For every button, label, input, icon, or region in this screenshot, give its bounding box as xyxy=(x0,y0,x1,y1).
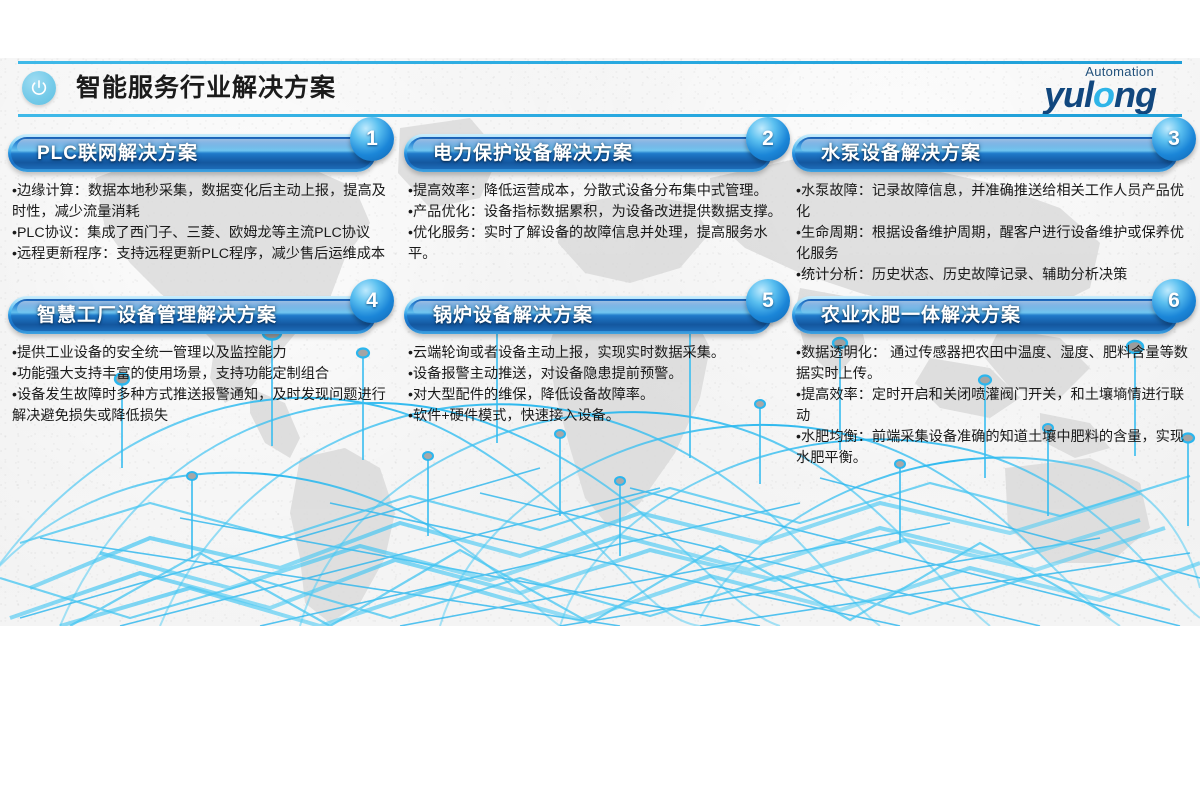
power-icon[interactable] xyxy=(22,71,56,105)
card-bullet: •软件+硬件模式，快速接入设备。 xyxy=(408,406,786,427)
card-number-badge: 4 xyxy=(350,279,394,323)
card-bullet: •设备报警主动推送，对设备隐患提前预警。 xyxy=(408,364,786,385)
slide-canvas: 智能服务行业解决方案 Automation yulong PLC联网解决方案 1… xyxy=(0,58,1200,626)
card-body: •提高效率：降低运营成本，分散式设备分布集中式管理。 •产品优化：设备指标数据累… xyxy=(404,181,786,265)
card-number-badge: 2 xyxy=(746,117,790,161)
solution-card[interactable]: 水泵设备解决方案 3 •水泵故障：记录故障信息，并准确推送给相关工作人员产品优化… xyxy=(792,134,1192,286)
card-bullet: •水泵故障：记录故障信息，并准确推送给相关工作人员产品优化 xyxy=(796,181,1190,223)
card-title: 水泵设备解决方案 xyxy=(821,137,1127,169)
card-title-pill-inner: 锅炉设备解决方案 xyxy=(407,299,769,331)
card-title-pill[interactable]: 锅炉设备解决方案 5 xyxy=(404,296,772,334)
card-body: •云端轮询或者设备主动上报，实现实时数据采集。 •设备报警主动推送，对设备隐患提… xyxy=(404,343,786,427)
card-bullet: •功能强大支持丰富的使用场景，支持功能定制组合 xyxy=(12,364,390,385)
card-bullet: •云端轮询或者设备主动上报，实现实时数据采集。 xyxy=(408,343,786,364)
card-title-pill[interactable]: 农业水肥一体解决方案 6 xyxy=(792,296,1178,334)
card-number-badge: 5 xyxy=(746,279,790,323)
card-number-badge: 6 xyxy=(1152,279,1196,323)
card-title: 锅炉设备解决方案 xyxy=(433,299,721,331)
solution-card[interactable]: PLC联网解决方案 1 •边缘计算：数据本地秒采集，数据变化后主动上报，提高及时… xyxy=(8,134,390,265)
card-number-badge: 3 xyxy=(1152,117,1196,161)
card-bullet: •提供工业设备的安全统一管理以及监控能力 xyxy=(12,343,390,364)
card-title-pill-inner: 智慧工厂设备管理解决方案 xyxy=(11,299,373,331)
card-body: •数据透明化： 通过传感器把农田中温度、湿度、肥料含量等数据实时上传。 •提高效… xyxy=(792,343,1190,469)
card-bullet: •提高效率：定时开启和关闭喷灌阀门开关，和土壤墒情进行联动 xyxy=(796,385,1190,427)
page-title: 智能服务行业解决方案 xyxy=(76,64,336,112)
card-title: 电力保护设备解决方案 xyxy=(433,137,721,169)
card-bullet: •边缘计算：数据本地秒采集，数据变化后主动上报，提高及时性，减少流量消耗 xyxy=(12,181,390,223)
card-title-pill[interactable]: 智慧工厂设备管理解决方案 4 xyxy=(8,296,376,334)
card-bullet: •PLC协议：集成了西门子、三菱、欧姆龙等主流PLC协议 xyxy=(12,223,390,244)
card-title-pill[interactable]: 电力保护设备解决方案 2 xyxy=(404,134,772,172)
card-bullet: •对大型配件的维保，降低设备故障率。 xyxy=(408,385,786,406)
solution-card[interactable]: 电力保护设备解决方案 2 •提高效率：降低运营成本，分散式设备分布集中式管理。 … xyxy=(404,134,786,265)
card-title-pill-inner: 农业水肥一体解决方案 xyxy=(795,299,1175,331)
card-title-pill[interactable]: PLC联网解决方案 1 xyxy=(8,134,376,172)
card-number: 6 xyxy=(1152,279,1196,323)
card-number: 4 xyxy=(350,279,394,323)
solution-card[interactable]: 智慧工厂设备管理解决方案 4 •提供工业设备的安全统一管理以及监控能力 •功能强… xyxy=(8,296,390,427)
card-title: 智慧工厂设备管理解决方案 xyxy=(37,299,325,331)
logo-text-part1: yul xyxy=(1044,74,1093,115)
card-bullet: •统计分析：历史状态、历史故障记录、辅助分析决策 xyxy=(796,265,1190,286)
page-header: 智能服务行业解决方案 Automation yulong xyxy=(0,58,1200,118)
card-title-pill-inner: PLC联网解决方案 xyxy=(11,137,373,169)
card-number: 3 xyxy=(1152,117,1196,161)
card-bullet: •生命周期：根据设备维护周期，醒客户进行设备维护或保养优化服务 xyxy=(796,223,1190,265)
card-number: 5 xyxy=(746,279,790,323)
logo-wordmark: yulong xyxy=(1044,76,1156,114)
card-bullet: •提高效率：降低运营成本，分散式设备分布集中式管理。 xyxy=(408,181,786,202)
logo-text-part2: ng xyxy=(1114,74,1156,115)
card-title-pill-inner: 电力保护设备解决方案 xyxy=(407,137,769,169)
card-title: PLC联网解决方案 xyxy=(37,137,325,169)
card-number: 2 xyxy=(746,117,790,161)
solution-card[interactable]: 农业水肥一体解决方案 6 •数据透明化： 通过传感器把农田中温度、湿度、肥料含量… xyxy=(792,296,1192,469)
logo-text-o: o xyxy=(1093,74,1114,115)
solution-card[interactable]: 锅炉设备解决方案 5 •云端轮询或者设备主动上报，实现实时数据采集。 •设备报警… xyxy=(404,296,786,427)
card-title: 农业水肥一体解决方案 xyxy=(821,299,1127,331)
card-bullet: •水肥均衡：前端采集设备准确的知道土壤中肥料的含量，实现水肥平衡。 xyxy=(796,427,1190,469)
header-rule-bottom xyxy=(18,114,1182,117)
card-number: 1 xyxy=(350,117,394,161)
card-title-pill[interactable]: 水泵设备解决方案 3 xyxy=(792,134,1178,172)
brand-logo: Automation yulong xyxy=(946,62,1156,114)
footer-whitespace xyxy=(0,626,1200,806)
card-title-pill-inner: 水泵设备解决方案 xyxy=(795,137,1175,169)
card-number-badge: 1 xyxy=(350,117,394,161)
card-bullet: •设备发生故障时多种方式推送报警通知，及时发现问题进行解决避免损失或降低损失 xyxy=(12,385,390,427)
card-body: •水泵故障：记录故障信息，并准确推送给相关工作人员产品优化 •生命周期：根据设备… xyxy=(792,181,1190,286)
card-body: •边缘计算：数据本地秒采集，数据变化后主动上报，提高及时性，减少流量消耗 •PL… xyxy=(8,181,390,265)
card-bullet: •数据透明化： 通过传感器把农田中温度、湿度、肥料含量等数据实时上传。 xyxy=(796,343,1190,385)
card-bullet: •优化服务：实时了解设备的故障信息并处理，提高服务水平。 xyxy=(408,223,786,265)
card-bullet: •产品优化：设备指标数据累积，为设备改进提供数据支撑。 xyxy=(408,202,786,223)
card-body: •提供工业设备的安全统一管理以及监控能力 •功能强大支持丰富的使用场景，支持功能… xyxy=(8,343,390,427)
card-bullet: •远程更新程序：支持远程更新PLC程序，减少售后运维成本 xyxy=(12,244,390,265)
